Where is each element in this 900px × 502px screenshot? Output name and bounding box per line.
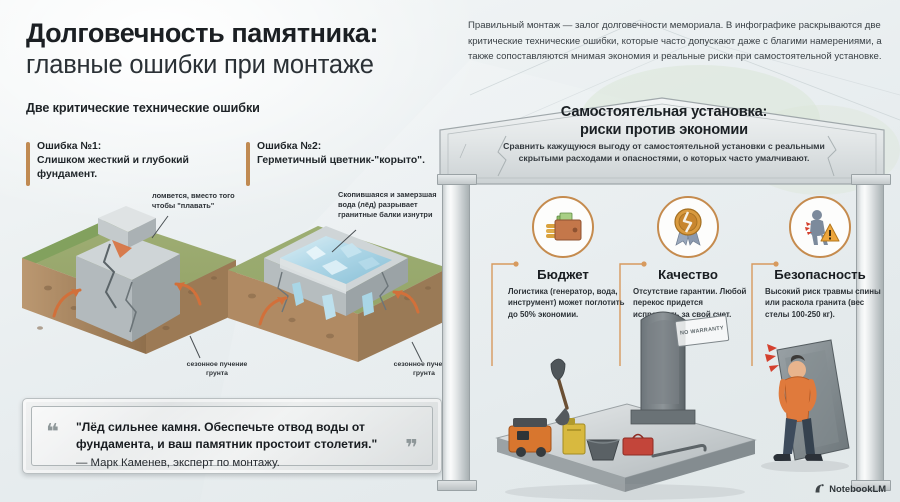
- error-1-label: Ошибка №1:: [37, 140, 231, 154]
- infographic-page: Долговечность памятника: главные ошибки …: [0, 0, 900, 502]
- note-error-2: Скопившаяся и замерзшая вода (лёд) разры…: [338, 190, 443, 221]
- no-warranty-label: NO WARRANTY: [680, 325, 724, 336]
- panel-title-line-1: Самостоятельная установка:: [496, 104, 832, 122]
- broken-award-icon: [657, 196, 719, 258]
- error-2-description: Герметичный цветник-"корыто".: [257, 154, 451, 168]
- title-line-1: Долговечность памятника:: [26, 18, 446, 48]
- accent-bar-icon: [26, 142, 30, 186]
- illustration-ice-flowerbox: [222, 196, 457, 371]
- error-callout-1: Ошибка №1: Слишком жесткий и глубокий фу…: [26, 140, 231, 182]
- accent-bar-icon: [246, 142, 250, 186]
- risk-title-budget: Бюджет: [500, 267, 626, 282]
- intro-paragraph: Правильный монтаж — залог долговечности …: [468, 18, 886, 65]
- quote-author: — Марк Каменев, эксперт по монтажу.: [76, 457, 280, 469]
- panel-subtitle: Сравнить кажущуюся выгоду от самостоятел…: [498, 140, 830, 165]
- error-callout-2: Ошибка №2: Герметичный цветник-"корыто".: [246, 140, 451, 168]
- leader-line-note-1: [134, 210, 174, 250]
- quote-open-icon: ❝: [46, 421, 59, 443]
- error-1-description: Слишком жесткий и глубокий фундамент.: [37, 154, 231, 182]
- risk-title-safety: Безопасность: [757, 267, 883, 282]
- quote-text: "Лёд сильнее камня. Обеспечьте отвод вод…: [76, 419, 398, 452]
- quote-inner-frame: ❝ ❞ "Лёд сильнее камня. Обеспечьте отвод…: [31, 406, 433, 466]
- brand-footer: NotebookLM: [814, 483, 886, 494]
- error-2-label: Ошибка №2:: [257, 140, 451, 154]
- left-section-title: Две критические технические ошибки: [26, 101, 260, 115]
- wallet-money-icon: [532, 196, 594, 258]
- page-title: Долговечность памятника: главные ошибки …: [26, 18, 446, 80]
- expert-quote-card: ❝ ❞ "Лёд сильнее камня. Обеспечьте отвод…: [22, 398, 442, 474]
- quote-close-icon: ❞: [405, 437, 418, 459]
- notebooklm-icon: [814, 483, 825, 494]
- brand-label: NotebookLM: [829, 483, 886, 494]
- leader-line-note-2: [316, 226, 360, 260]
- illustration-rigid-foundation: [14, 196, 244, 371]
- panel-title-line-2: риски против экономии: [496, 122, 832, 140]
- panel-title: Самостоятельная установка: риски против …: [496, 104, 832, 140]
- risk-title-quality: Качество: [625, 267, 751, 282]
- back-injury-warning-icon: [789, 196, 851, 258]
- title-line-2: главные ошибки при монтаже: [26, 50, 446, 80]
